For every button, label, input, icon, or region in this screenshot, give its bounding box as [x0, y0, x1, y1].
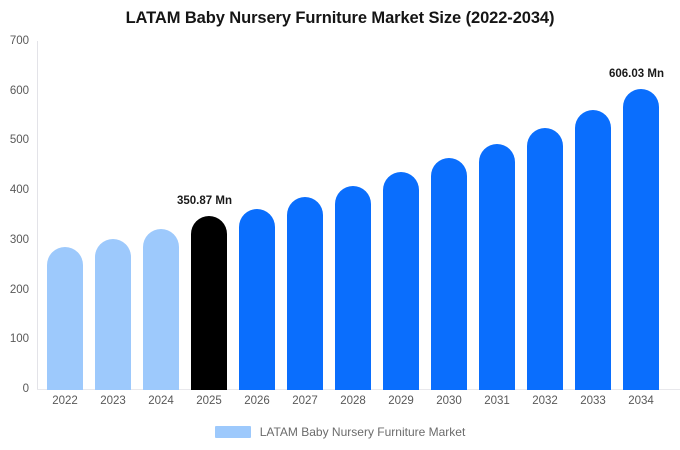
y-tick-100: 100	[10, 333, 29, 345]
x-tick-2025: 2025	[185, 395, 233, 407]
x-tick-2027: 2027	[281, 395, 329, 407]
data-label-2034: 606.03 Mn	[609, 68, 664, 80]
x-tick-2028: 2028	[329, 395, 377, 407]
y-tick-300: 300	[10, 234, 29, 246]
y-tick-700: 700	[10, 35, 29, 47]
x-tick-2024: 2024	[137, 395, 185, 407]
data-label-2025: 350.87 Mn	[177, 195, 232, 207]
x-axis-tick-labels: 2022202320242025202620272028202920302031…	[37, 0, 680, 450]
x-tick-2022: 2022	[41, 395, 89, 407]
legend-item-label: LATAM Baby Nursery Furniture Market	[260, 425, 466, 439]
chart-legend: LATAM Baby Nursery Furniture Market	[0, 425, 680, 439]
y-tick-0: 0	[23, 383, 29, 395]
x-tick-2029: 2029	[377, 395, 425, 407]
x-tick-2034: 2034	[617, 395, 665, 407]
x-tick-2030: 2030	[425, 395, 473, 407]
y-tick-400: 400	[10, 184, 29, 196]
x-tick-2031: 2031	[473, 395, 521, 407]
y-tick-200: 200	[10, 284, 29, 296]
y-tick-600: 600	[10, 85, 29, 97]
chart-container: LATAM Baby Nursery Furniture Market Size…	[0, 0, 680, 450]
x-tick-2026: 2026	[233, 395, 281, 407]
x-tick-2033: 2033	[569, 395, 617, 407]
x-tick-2023: 2023	[89, 395, 137, 407]
x-tick-2032: 2032	[521, 395, 569, 407]
y-tick-500: 500	[10, 134, 29, 146]
legend-swatch-icon	[215, 426, 251, 438]
